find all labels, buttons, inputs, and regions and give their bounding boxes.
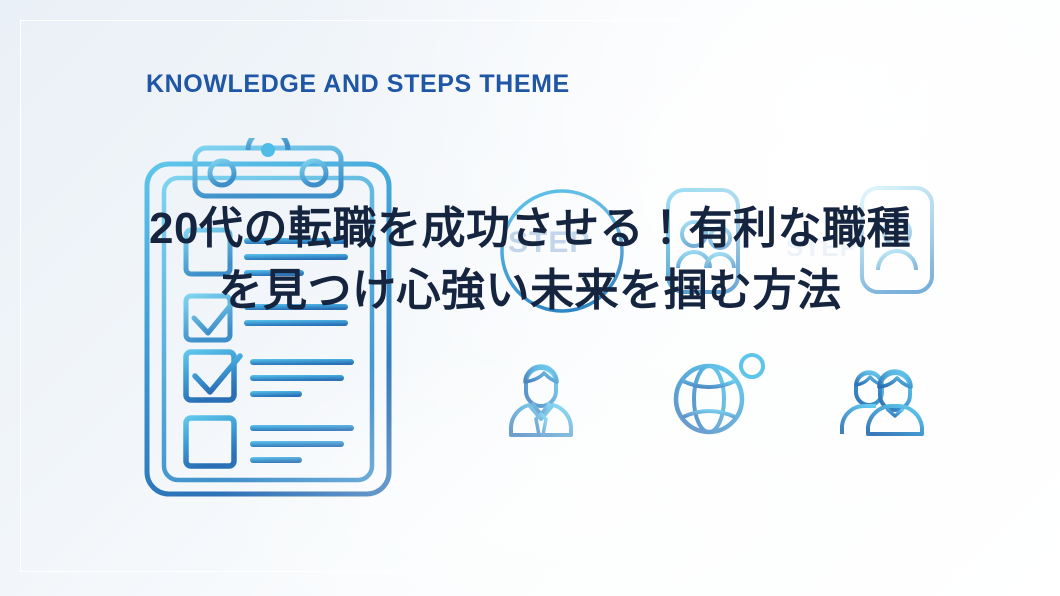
clip-hole [210, 161, 234, 185]
checkbox-checked [186, 352, 234, 400]
page-title-line-2: を見つけ心強い未来を掴む方法 [0, 260, 1060, 322]
check-mark [195, 356, 240, 392]
globe-icon [672, 362, 746, 436]
clip-hole [302, 161, 326, 185]
eyebrow-heading: KNOWLEDGE AND STEPS THEME [146, 70, 570, 99]
page-title-line-1: 20代の転職を成功させる！有利な職種 [0, 198, 1060, 260]
people-group-icon [840, 362, 932, 438]
page-title: 20代の転職を成功させる！有利な職種 を見つけ心強い未来を掴む方法 [0, 198, 1060, 323]
businessman-icon [506, 357, 576, 439]
checkbox-unchecked [186, 418, 234, 466]
ring-dot-icon [737, 351, 767, 381]
slide-canvas: STEP STEP KNOWLEDGE AND STEPS THEME 20代の… [0, 0, 1060, 596]
